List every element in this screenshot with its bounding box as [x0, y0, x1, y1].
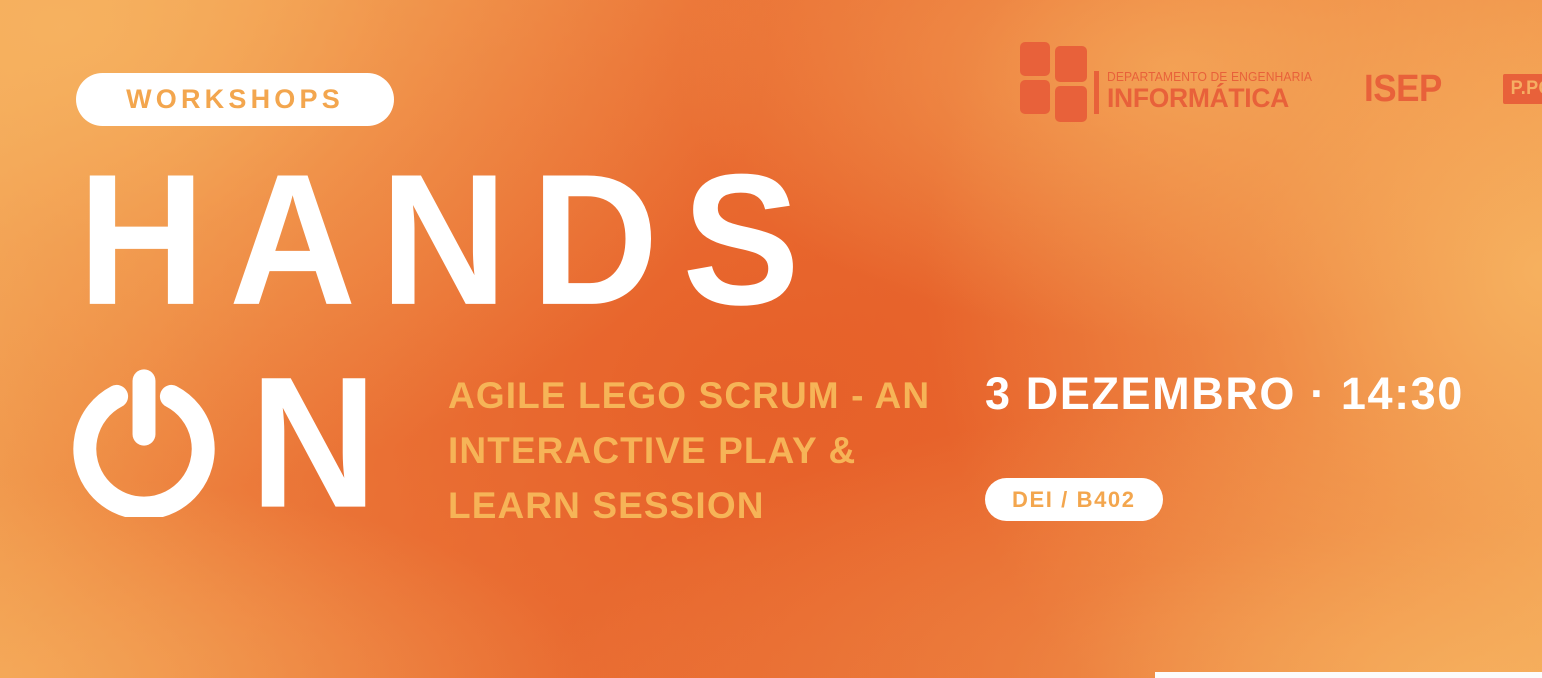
- brand-title-on-letter: N: [250, 350, 377, 537]
- brand-title-hands: HANDS: [78, 147, 824, 334]
- dei-logo-text: DEPARTAMENTO DE ENGENHARIA INFORMÁTICA: [1094, 71, 1318, 115]
- event-banner: WORKSHOPS HANDS N AGILE LEGO SCRUM - AN …: [0, 0, 1542, 678]
- logo-bar: DEPARTAMENTO DE ENGENHARIA INFORMÁTICA I…: [1020, 36, 1542, 114]
- dei-logo-line1: DEPARTAMENTO DE ENGENHARIA: [1107, 71, 1312, 84]
- dei-logo: DEPARTAMENTO DE ENGENHARIA INFORMÁTICA: [1020, 36, 1318, 114]
- location-pill: DEI / B402: [985, 478, 1163, 521]
- event-datetime: 3 DEZEMBRO · 14:30: [985, 367, 1464, 421]
- category-pill: WORKSHOPS: [76, 73, 394, 126]
- dei-squares-icon: [1020, 42, 1090, 114]
- location-pill-label: DEI / B402: [1012, 489, 1136, 511]
- dei-logo-line2: INFORMÁTICA: [1107, 85, 1314, 112]
- power-icon: [70, 369, 218, 517]
- brand-title-on: N: [70, 355, 377, 531]
- bottom-edge-strip: [1155, 672, 1542, 678]
- isep-logo: ISEP: [1364, 70, 1442, 114]
- category-pill-label: WORKSHOPS: [126, 86, 344, 113]
- pporto-logo: P.PORTO: [1503, 74, 1542, 104]
- workshop-title: AGILE LEGO SCRUM - AN INTERACTIVE PLAY &…: [448, 368, 948, 533]
